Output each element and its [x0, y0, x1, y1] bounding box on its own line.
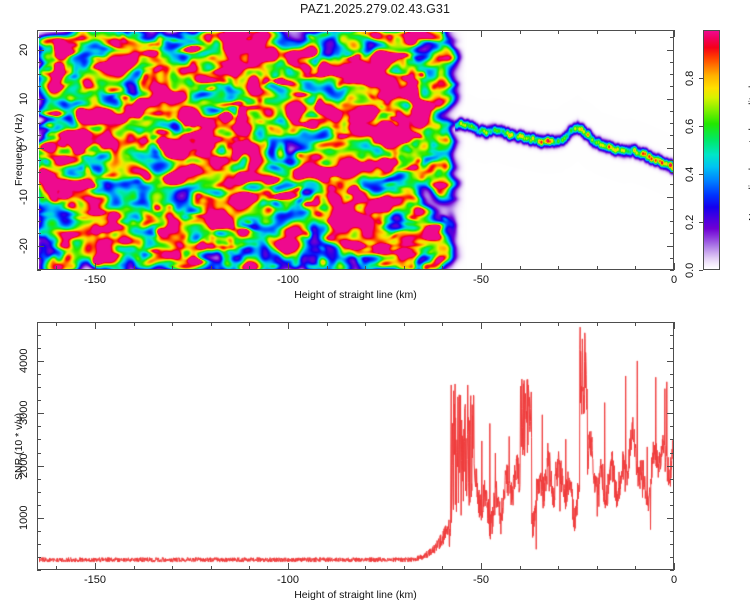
x-major-tick — [95, 263, 96, 270]
snr-panel — [37, 322, 674, 570]
y-minor-tick — [670, 426, 674, 427]
y-minor-tick — [670, 387, 674, 388]
y-major-tick — [667, 518, 674, 519]
y-minor-tick — [37, 62, 41, 63]
x-major-tick — [95, 563, 96, 570]
x-minor-tick — [365, 266, 366, 270]
y-minor-tick — [37, 123, 41, 124]
y-minor-tick — [670, 270, 674, 271]
y-minor-tick — [37, 270, 41, 271]
x-tick-label: -150 — [84, 274, 106, 286]
y-minor-tick — [670, 505, 674, 506]
figure-root: PAZ1.2025.279.02.43.G31 -150-100-500-20-… — [0, 0, 750, 600]
snr-plot-area — [38, 323, 673, 569]
y-major-tick — [667, 50, 674, 51]
figure-title: PAZ1.2025.279.02.43.G31 — [0, 2, 750, 16]
y-major-tick — [37, 466, 44, 467]
x-major-tick — [288, 322, 289, 329]
x-minor-tick — [172, 266, 173, 270]
x-major-tick — [674, 322, 675, 329]
x-minor-tick — [211, 266, 212, 270]
x-minor-tick — [249, 30, 250, 34]
y-minor-tick — [37, 74, 41, 75]
x-tick-label: -150 — [84, 574, 106, 586]
y-minor-tick — [670, 37, 674, 38]
x-minor-tick — [442, 30, 443, 34]
y-minor-tick — [37, 172, 41, 173]
x-minor-tick — [520, 30, 521, 34]
spectrogram-x-axis-title: Height of straight line (km) — [294, 289, 417, 301]
x-minor-tick — [558, 566, 559, 570]
x-minor-tick — [249, 322, 250, 326]
x-major-tick — [481, 563, 482, 570]
x-minor-tick — [365, 322, 366, 326]
x-minor-tick — [635, 322, 636, 326]
x-major-tick — [674, 563, 675, 570]
colorbar-tick-label: 0.0 — [684, 262, 696, 277]
y-minor-tick — [670, 322, 674, 323]
x-minor-tick — [134, 322, 135, 326]
y-minor-tick — [37, 348, 41, 349]
x-minor-tick — [404, 322, 405, 326]
x-minor-tick — [597, 266, 598, 270]
y-minor-tick — [37, 439, 41, 440]
y-minor-tick — [670, 479, 674, 480]
y-minor-tick — [670, 492, 674, 493]
x-tick-label: -50 — [473, 274, 489, 286]
x-minor-tick — [520, 266, 521, 270]
x-minor-tick — [442, 266, 443, 270]
x-tick-label: 0 — [671, 574, 677, 586]
y-tick-label: 4000 — [18, 349, 30, 373]
x-minor-tick — [172, 322, 173, 326]
y-minor-tick — [670, 400, 674, 401]
y-minor-tick — [670, 335, 674, 336]
x-minor-tick — [558, 30, 559, 34]
y-minor-tick — [37, 479, 41, 480]
y-minor-tick — [37, 426, 41, 427]
colorbar-tick — [699, 222, 703, 223]
snr-line-series — [39, 324, 673, 569]
x-minor-tick — [404, 266, 405, 270]
x-minor-tick — [442, 322, 443, 326]
y-minor-tick — [37, 492, 41, 493]
x-minor-tick — [635, 266, 636, 270]
x-minor-tick — [442, 566, 443, 570]
x-minor-tick — [172, 30, 173, 34]
y-minor-tick — [37, 557, 41, 558]
colorbar-tick-label: 0.6 — [684, 118, 696, 133]
y-tick-label: -20 — [18, 238, 30, 254]
y-minor-tick — [37, 111, 41, 112]
colorbar — [703, 30, 720, 270]
x-tick-label: 0 — [671, 274, 677, 286]
y-minor-tick — [670, 374, 674, 375]
y-minor-tick — [670, 62, 674, 63]
y-minor-tick — [670, 348, 674, 349]
colorbar-tick — [699, 126, 703, 127]
y-minor-tick — [37, 531, 41, 532]
y-minor-tick — [37, 400, 41, 401]
x-minor-tick — [211, 30, 212, 34]
y-minor-tick — [37, 233, 41, 234]
x-minor-tick — [249, 266, 250, 270]
y-minor-tick — [670, 172, 674, 173]
x-minor-tick — [134, 266, 135, 270]
snr-x-axis-title: Height of straight line (km) — [294, 589, 417, 600]
y-tick-label: 1000 — [18, 506, 30, 530]
x-major-tick — [288, 30, 289, 37]
colorbar-tick — [699, 270, 703, 271]
x-minor-tick — [327, 566, 328, 570]
x-minor-tick — [327, 266, 328, 270]
y-major-tick — [667, 361, 674, 362]
snr-y-axis-title: SNR (10 * v/v) — [13, 412, 25, 479]
x-minor-tick — [327, 322, 328, 326]
y-minor-tick — [37, 258, 41, 259]
y-major-tick — [37, 50, 44, 51]
y-minor-tick — [37, 184, 41, 185]
y-minor-tick — [37, 135, 41, 136]
spectrogram-y-axis-title: Frequency (Hz) — [13, 114, 25, 186]
y-minor-tick — [670, 439, 674, 440]
colorbar-tick-label: 0.8 — [684, 70, 696, 85]
x-minor-tick — [211, 322, 212, 326]
y-major-tick — [667, 197, 674, 198]
y-major-tick — [37, 197, 44, 198]
spectrogram-image — [39, 32, 673, 269]
y-minor-tick — [37, 160, 41, 161]
x-tick-label: -100 — [277, 574, 299, 586]
x-major-tick — [95, 322, 96, 329]
y-minor-tick — [670, 557, 674, 558]
y-major-tick — [37, 148, 44, 149]
y-minor-tick — [670, 160, 674, 161]
x-minor-tick — [597, 566, 598, 570]
y-minor-tick — [37, 37, 41, 38]
y-minor-tick — [37, 335, 41, 336]
x-tick-label: -100 — [277, 274, 299, 286]
spectrogram-panel — [37, 30, 674, 270]
y-minor-tick — [37, 544, 41, 545]
x-tick-label: -50 — [473, 574, 489, 586]
y-tick-label: 10 — [18, 93, 30, 105]
x-minor-tick — [558, 266, 559, 270]
y-tick-label: -10 — [18, 189, 30, 205]
x-minor-tick — [520, 322, 521, 326]
y-minor-tick — [670, 184, 674, 185]
y-minor-tick — [670, 111, 674, 112]
y-major-tick — [667, 148, 674, 149]
y-minor-tick — [37, 570, 41, 571]
y-minor-tick — [670, 453, 674, 454]
y-minor-tick — [670, 258, 674, 259]
y-minor-tick — [670, 123, 674, 124]
x-major-tick — [288, 563, 289, 570]
y-minor-tick — [37, 209, 41, 210]
y-minor-tick — [670, 233, 674, 234]
spectrogram-plot-area — [38, 31, 673, 269]
x-minor-tick — [558, 322, 559, 326]
y-minor-tick — [670, 544, 674, 545]
x-minor-tick — [597, 30, 598, 34]
y-major-tick — [37, 413, 44, 414]
x-minor-tick — [520, 566, 521, 570]
x-minor-tick — [56, 566, 57, 570]
x-minor-tick — [365, 30, 366, 34]
x-minor-tick — [56, 266, 57, 270]
x-major-tick — [481, 263, 482, 270]
y-major-tick — [667, 466, 674, 467]
colorbar-tick — [699, 78, 703, 79]
x-minor-tick — [172, 566, 173, 570]
colorbar-gradient — [703, 30, 720, 270]
y-minor-tick — [670, 209, 674, 210]
x-major-tick — [674, 30, 675, 37]
y-minor-tick — [670, 531, 674, 532]
y-minor-tick — [37, 505, 41, 506]
x-major-tick — [674, 263, 675, 270]
x-minor-tick — [327, 30, 328, 34]
y-minor-tick — [670, 570, 674, 571]
y-major-tick — [37, 361, 44, 362]
x-minor-tick — [249, 566, 250, 570]
x-minor-tick — [365, 566, 366, 570]
y-minor-tick — [670, 221, 674, 222]
y-minor-tick — [37, 86, 41, 87]
y-major-tick — [667, 99, 674, 100]
x-minor-tick — [56, 30, 57, 34]
x-minor-tick — [635, 566, 636, 570]
y-minor-tick — [670, 86, 674, 87]
colorbar-tick — [699, 174, 703, 175]
x-minor-tick — [404, 30, 405, 34]
x-major-tick — [95, 30, 96, 37]
x-minor-tick — [404, 566, 405, 570]
y-major-tick — [37, 246, 44, 247]
y-minor-tick — [37, 374, 41, 375]
y-minor-tick — [670, 74, 674, 75]
y-major-tick — [37, 518, 44, 519]
x-minor-tick — [134, 566, 135, 570]
y-minor-tick — [37, 387, 41, 388]
y-minor-tick — [37, 322, 41, 323]
y-minor-tick — [37, 453, 41, 454]
colorbar-tick-label: 0.2 — [684, 214, 696, 229]
x-minor-tick — [597, 322, 598, 326]
y-minor-tick — [670, 135, 674, 136]
y-tick-label: 20 — [18, 44, 30, 56]
y-major-tick — [667, 413, 674, 414]
x-major-tick — [288, 263, 289, 270]
y-major-tick — [667, 246, 674, 247]
x-minor-tick — [134, 30, 135, 34]
x-major-tick — [481, 322, 482, 329]
x-minor-tick — [56, 322, 57, 326]
y-minor-tick — [37, 221, 41, 222]
x-minor-tick — [635, 30, 636, 34]
y-major-tick — [37, 99, 44, 100]
x-minor-tick — [211, 566, 212, 570]
colorbar-tick-label: 0.4 — [684, 166, 696, 181]
x-major-tick — [481, 30, 482, 37]
